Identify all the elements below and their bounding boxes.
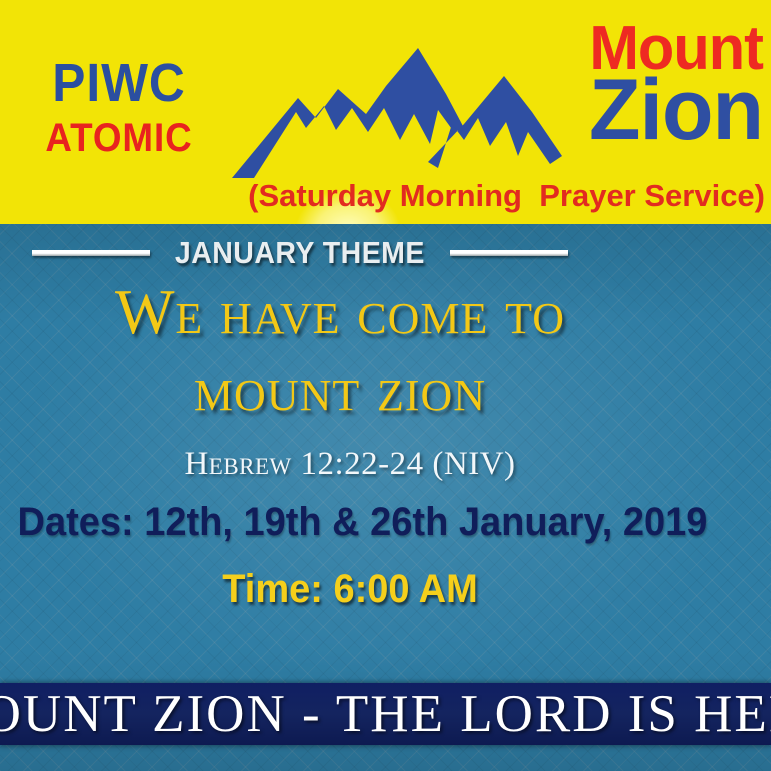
theme-heading-row: JANUARY THEME xyxy=(0,235,600,271)
church-branding: PIWC ATOMIC xyxy=(14,56,224,158)
event-dates: Dates: 12th, 19th & 26th January, 2019 xyxy=(18,500,683,545)
theme-headline-line-1: We have come to xyxy=(115,277,565,347)
church-name-piwc: PIWC xyxy=(22,56,215,110)
divider-line-left xyxy=(32,250,150,256)
footer-banner: MOUNT ZION - THE LORD IS HERE xyxy=(0,683,771,745)
theme-label: JANUARY THEME xyxy=(175,235,425,271)
ministry-branding: Mount Zion xyxy=(463,22,763,148)
scripture-reference: Hebrew 12:22-24 (NIV) xyxy=(0,446,700,483)
theme-headline: We have come to mount zion xyxy=(0,274,680,428)
footer-banner-text: MOUNT ZION - THE LORD IS HERE xyxy=(0,683,771,745)
event-time: Time: 6:00 AM xyxy=(18,567,683,612)
divider-line-right xyxy=(450,250,568,256)
church-branch-atomic: ATOMIC xyxy=(22,118,215,158)
theme-headline-line-2: mount zion xyxy=(0,351,680,428)
ministry-name-zion: Zion xyxy=(469,73,763,149)
service-subtitle: (Saturday Morning Prayer Service) xyxy=(0,178,765,214)
header-logo-band: PIWC ATOMIC Mount Zion (Saturday Morning… xyxy=(0,0,771,224)
flyer-poster: PIWC ATOMIC Mount Zion (Saturday Morning… xyxy=(0,0,771,771)
